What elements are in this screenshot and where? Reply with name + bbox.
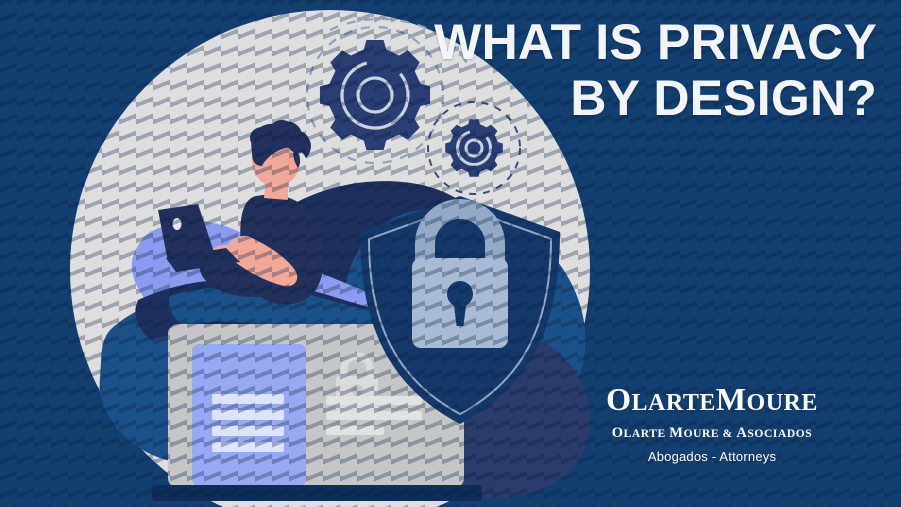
document-line: [212, 410, 284, 420]
fn-sociados: SOCIADOS: [747, 428, 812, 440]
screen-text-line: [326, 396, 422, 405]
fn-m: M: [669, 425, 683, 441]
fn-a: A: [736, 425, 747, 441]
title-line-1: WHAT IS PRIVACY: [357, 14, 877, 70]
gear-small-icon: [445, 119, 503, 177]
logo-o: O: [606, 381, 631, 417]
laptop-logo-dot: [173, 218, 182, 230]
laptop-base-bar: [152, 485, 482, 501]
screen-text-line: [326, 426, 384, 435]
logo-full-name: OLARTE MOURE & ASOCIADOS: [567, 423, 857, 444]
logo-tagline: Abogados - Attorneys: [567, 448, 857, 465]
screen-text-line: [326, 411, 422, 420]
logo-wordmark: OLARTEMOURE: [567, 382, 857, 420]
logo-m: M: [716, 381, 747, 417]
document-line: [212, 426, 284, 436]
fn-o: O: [612, 425, 624, 441]
logo-oure: OURE: [747, 390, 818, 416]
poster-canvas: WHAT IS PRIVACY BY DESIGN? OLARTEMOURE O…: [0, 0, 901, 507]
document-line: [212, 394, 284, 404]
brand-logo[interactable]: OLARTEMOURE OLARTE MOURE & ASOCIADOS Abo…: [567, 382, 857, 465]
title-line-2: BY DESIGN?: [357, 70, 877, 126]
page-title: WHAT IS PRIVACY BY DESIGN?: [357, 14, 877, 126]
logo-larte: LARTE: [632, 390, 716, 416]
document-line: [212, 442, 284, 452]
fn-oure-amp: OURE &: [684, 428, 737, 440]
fn-larte: LARTE: [624, 428, 670, 440]
